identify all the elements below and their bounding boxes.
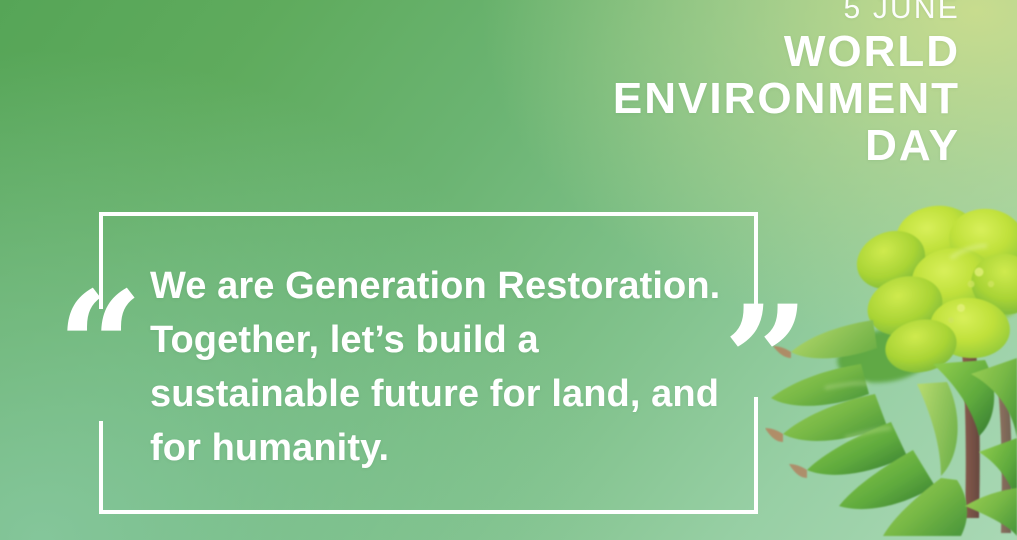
headline-line-day: DAY	[613, 122, 960, 169]
quote-text: We are Generation Restoration. Together,…	[150, 259, 750, 475]
frame-border-bottom	[99, 510, 758, 514]
world-environment-day-banner: 5 JUNE WORLD ENVIRONMENT DAY “ ” We are …	[0, 0, 1017, 540]
headline-line-environment: ENVIRONMENT	[613, 75, 960, 122]
frame-border-top	[99, 212, 758, 216]
headline-line-world: WORLD	[613, 28, 960, 75]
headline-date: 5 JUNE	[613, 0, 960, 24]
opening-quote-icon: “	[57, 272, 143, 422]
headline-block: 5 JUNE WORLD ENVIRONMENT DAY	[613, 0, 960, 169]
